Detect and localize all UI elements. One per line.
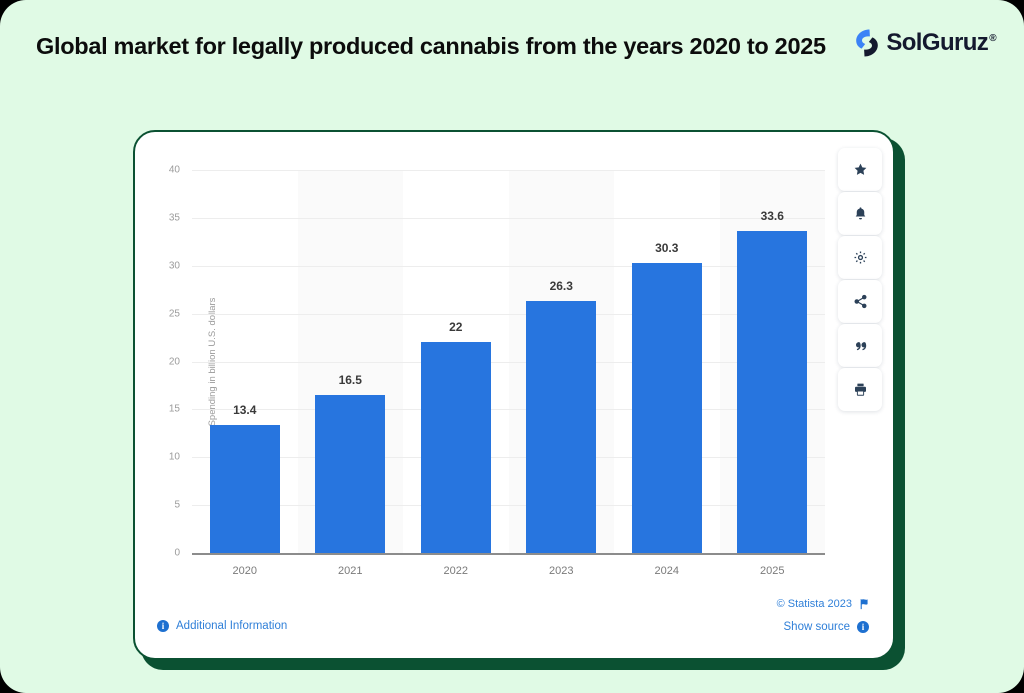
gridline — [192, 170, 825, 171]
share-icon — [853, 294, 868, 309]
brand-name-text: SolGuruz — [886, 29, 988, 56]
bar-value-label: 33.6 — [761, 209, 784, 223]
chart-card-footer: i Additional Information © Statista 2023… — [135, 578, 893, 658]
y-axis-tick-label: 20 — [169, 356, 180, 367]
bar[interactable]: 33.62025 — [737, 231, 807, 553]
bar[interactable]: 13.42020 — [210, 425, 280, 553]
y-axis-tick-label: 0 — [174, 548, 180, 559]
show-source-label: Show source — [784, 621, 850, 633]
y-axis-tick-label: 5 — [174, 500, 180, 511]
y-axis-tick-label: 10 — [169, 452, 180, 463]
bar[interactable]: 26.32023 — [526, 301, 596, 553]
y-axis-tick-label: 25 — [169, 308, 180, 319]
cite-button[interactable] — [838, 324, 882, 367]
gridline — [192, 457, 825, 458]
gridline — [192, 409, 825, 410]
brand-logo: SolGuruz® — [853, 28, 996, 58]
bar-value-label: 16.5 — [339, 373, 362, 387]
show-source-link[interactable]: Show source i — [784, 621, 869, 633]
quote-icon — [853, 338, 868, 353]
registered-mark: ® — [989, 33, 996, 44]
star-icon — [853, 162, 868, 177]
favorite-button[interactable] — [838, 148, 882, 191]
x-axis-line — [192, 553, 825, 555]
share-button[interactable] — [838, 280, 882, 323]
page-title: Global market for legally produced canna… — [36, 30, 846, 63]
chart-toolbar[interactable] — [838, 148, 882, 411]
bar-value-label: 13.4 — [233, 403, 256, 417]
gridline — [192, 505, 825, 506]
bar[interactable]: 30.32024 — [632, 263, 702, 553]
info-icon: i — [857, 621, 869, 633]
y-axis-tick-label: 30 — [169, 260, 180, 271]
solguruz-s-logo-icon — [853, 28, 881, 58]
gridline — [192, 266, 825, 267]
x-axis-tick-label: 2021 — [338, 565, 362, 577]
y-axis-tick-label: 35 — [169, 212, 180, 223]
copyright-label: © Statista 2023 — [777, 598, 852, 610]
x-axis-tick-label: 2025 — [760, 565, 784, 577]
bell-icon — [853, 206, 868, 221]
copyright-notice: © Statista 2023 — [777, 598, 869, 610]
additional-information-link[interactable]: i Additional Information — [157, 620, 287, 632]
x-axis-tick-label: 2024 — [655, 565, 679, 577]
y-axis-tick-label: 40 — [169, 165, 180, 176]
gear-icon — [853, 250, 868, 265]
x-axis-tick-label: 2020 — [233, 565, 257, 577]
bar[interactable]: 222022 — [421, 342, 491, 553]
chart-card-wrapper: Spending in billion U.S. dollars 0510152… — [133, 130, 905, 670]
flag-icon — [859, 598, 869, 610]
gridline — [192, 362, 825, 363]
page-header: Global market for legally produced canna… — [0, 0, 1024, 118]
x-axis-tick-label: 2022 — [444, 565, 468, 577]
bar[interactable]: 16.52021 — [315, 395, 385, 553]
additional-information-label: Additional Information — [176, 620, 287, 632]
info-icon: i — [157, 620, 169, 632]
print-icon — [853, 382, 868, 397]
chart-plot-area: Spending in billion U.S. dollars 0510152… — [192, 170, 825, 553]
bar-value-label: 30.3 — [655, 241, 678, 255]
gridline — [192, 218, 825, 219]
x-axis-tick-label: 2023 — [549, 565, 573, 577]
brand-name: SolGuruz® — [886, 29, 996, 57]
y-axis-tick-label: 15 — [169, 404, 180, 415]
notifications-button[interactable] — [838, 192, 882, 235]
screenshot-root: Global market for legally produced canna… — [0, 0, 1024, 693]
print-button[interactable] — [838, 368, 882, 411]
bar-value-label: 22 — [449, 320, 462, 334]
gridline — [192, 314, 825, 315]
settings-button[interactable] — [838, 236, 882, 279]
statista-chart-card: Spending in billion U.S. dollars 0510152… — [133, 130, 895, 660]
bar-value-label: 26.3 — [550, 279, 573, 293]
